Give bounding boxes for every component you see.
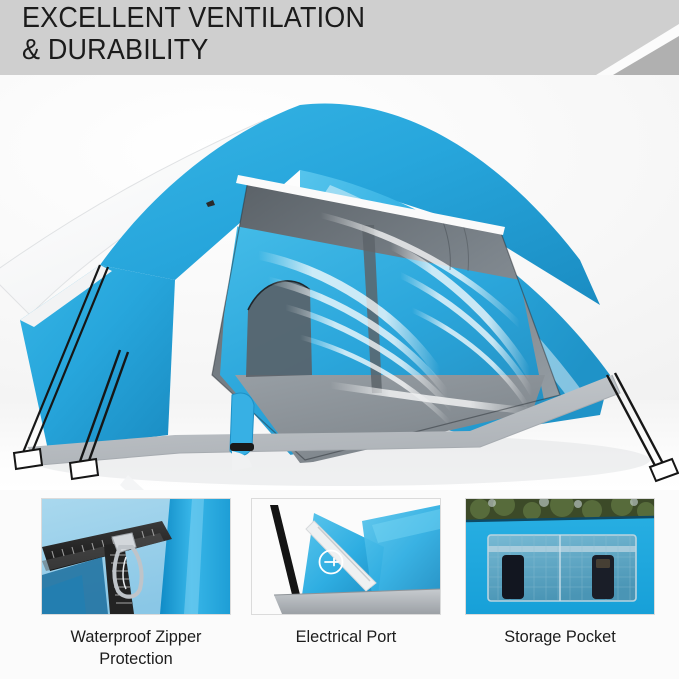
zipper-illustration <box>42 499 230 614</box>
feature-card-electrical-port[interactable]: Electrical Port <box>241 498 451 648</box>
feature-card-zipper[interactable]: Waterproof Zipper Protection <box>31 498 241 670</box>
electrical-port-illustration <box>252 499 440 614</box>
feature-caption-electrical-port: Electrical Port <box>245 626 447 648</box>
feature-thumbnail-strip: Waterproof Zipper Protection <box>0 498 679 679</box>
feature-caption-zipper: Waterproof Zipper Protection <box>35 626 237 670</box>
tent-stake-center <box>70 459 98 479</box>
phone-left <box>502 555 524 599</box>
thumbnail-zipper <box>41 498 231 615</box>
storage-pocket-illustration <box>466 499 654 614</box>
tent-door-strap <box>230 443 254 451</box>
hero-tent-image <box>0 75 679 490</box>
header-banner: EXCELLENT VENTILATION & DURABILITY <box>0 0 679 75</box>
feature-caption-storage-pocket: Storage Pocket <box>459 626 661 648</box>
tent-illustration <box>0 75 679 490</box>
thumbnail-storage-pocket <box>465 498 655 615</box>
thumbnail-electrical-port <box>251 498 441 615</box>
page-title: EXCELLENT VENTILATION & DURABILITY <box>22 2 365 66</box>
tent-stake-left <box>14 449 42 469</box>
feature-card-storage-pocket[interactable]: Storage Pocket <box>455 498 665 648</box>
